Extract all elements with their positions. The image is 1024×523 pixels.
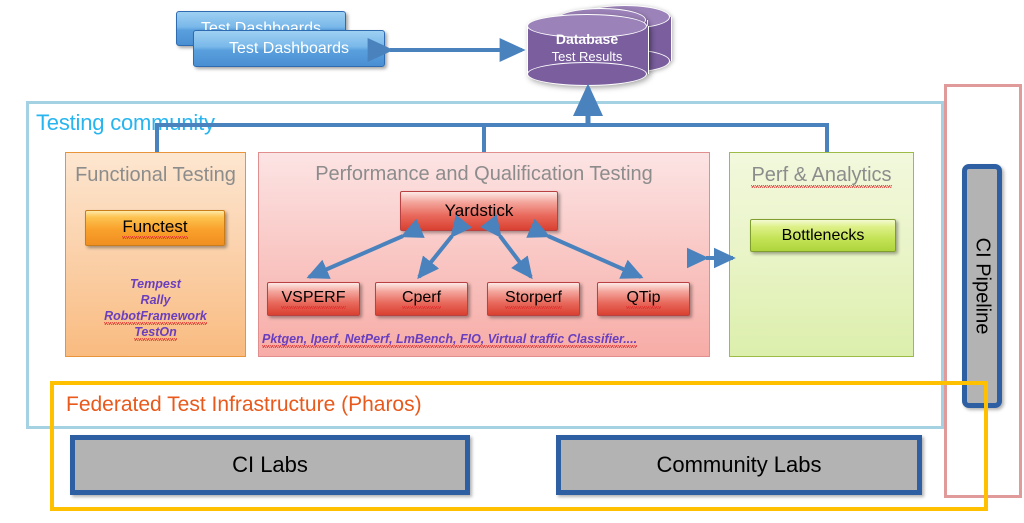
tool-label: TestOn	[134, 325, 177, 341]
test-dashboards-box-front[interactable]: Test Dashboards	[193, 30, 385, 67]
functest-button[interactable]: Functest	[85, 210, 225, 246]
testing-community-label: Testing community	[36, 110, 215, 136]
performance-tools-list: Pktgen, Iperf, NetPerf, LmBench, FIO, Vi…	[262, 331, 706, 347]
storperf-button[interactable]: Storperf	[487, 282, 580, 316]
performance-testing-title: Performance and Qualification Testing	[259, 163, 709, 186]
database-cylinder-front[interactable]	[527, 14, 647, 86]
vsperf-button[interactable]: VSPERF	[267, 282, 360, 316]
functional-tools-list: Tempest Rally RobotFramework TestOn	[65, 276, 246, 340]
perf-analytics-title: Perf & Analytics	[730, 164, 913, 187]
cperf-button[interactable]: Cperf	[375, 282, 468, 316]
functional-tool-item: TestOn	[65, 324, 246, 340]
functional-tool-item: Tempest	[65, 276, 246, 292]
test-dashboards-front-label: Test Dashboards	[229, 40, 349, 58]
cperf-label: Cperf	[402, 289, 441, 309]
tool-label: Tempest	[130, 277, 181, 291]
functest-label: Functest	[122, 217, 187, 239]
yardstick-label: Yardstick	[445, 201, 514, 221]
ci-pipeline-label: CI Pipeline	[971, 238, 994, 335]
tool-label: RobotFramework	[104, 309, 207, 325]
pharos-label: Federated Test Infrastructure (Pharos)	[66, 393, 422, 417]
yardstick-button[interactable]: Yardstick	[400, 191, 558, 231]
bottlenecks-label: Bottlenecks	[782, 227, 865, 245]
vsperf-label: VSPERF	[281, 289, 345, 309]
community-labs-box[interactable]: Community Labs	[556, 435, 922, 495]
functional-testing-title: Functional Testing	[66, 164, 245, 187]
ci-labs-box[interactable]: CI Labs	[70, 435, 470, 495]
community-labs-label: Community Labs	[656, 452, 821, 478]
diagram-canvas: Test Dashboards Test Dashboards Database…	[0, 0, 1024, 523]
qtip-label: QTip	[626, 289, 660, 309]
perf-analytics-title-text: Perf & Analytics	[751, 164, 891, 188]
ci-labs-label: CI Labs	[232, 452, 308, 478]
functional-tool-item: Rally	[65, 292, 246, 308]
cylinder-bottom	[527, 62, 647, 86]
performance-tools-label: Pktgen, Iperf, NetPerf, LmBench, FIO, Vi…	[262, 332, 637, 348]
ci-pipeline-box[interactable]: CI Pipeline	[962, 164, 1002, 408]
performance-testing-panel: Performance and Qualification Testing	[258, 152, 710, 357]
cylinder-top	[527, 14, 647, 38]
functional-tool-item: RobotFramework	[65, 308, 246, 324]
storperf-label: Storperf	[505, 289, 562, 309]
qtip-button[interactable]: QTip	[597, 282, 690, 316]
bottlenecks-button[interactable]: Bottlenecks	[750, 219, 896, 252]
tool-label: Rally	[141, 293, 171, 307]
perf-analytics-panel: Perf & Analytics	[729, 152, 914, 357]
